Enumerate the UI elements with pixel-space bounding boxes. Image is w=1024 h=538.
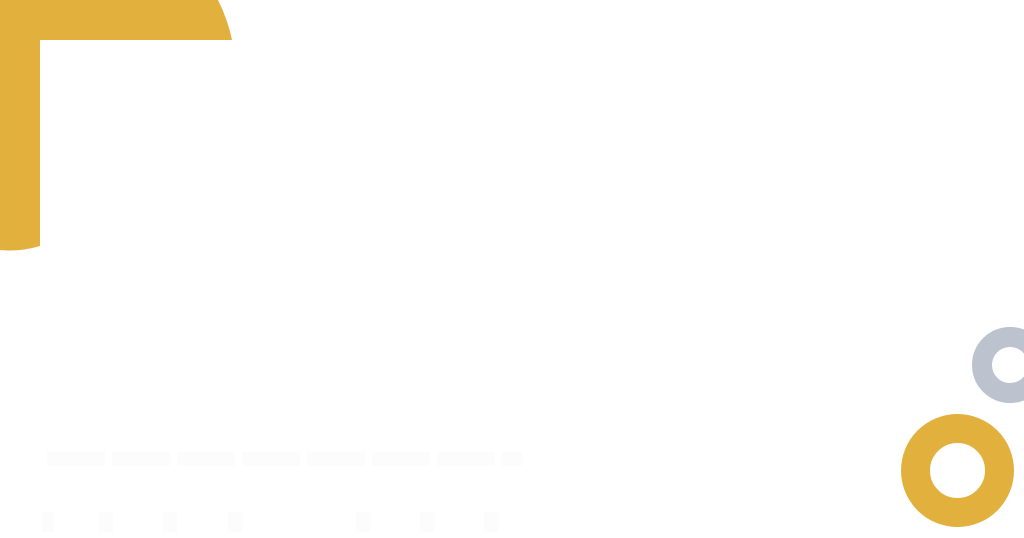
watermark-band-top bbox=[0, 452, 1024, 466]
watermark-chip bbox=[420, 512, 434, 532]
watermark-chip bbox=[372, 452, 430, 466]
ring-gray-ornament bbox=[972, 327, 1024, 403]
watermark-chip bbox=[242, 452, 300, 466]
watermark-chip bbox=[437, 452, 495, 466]
watermark-chip bbox=[484, 512, 498, 532]
quote-card-canvas: What helps me stay motivated daily bbox=[0, 0, 1024, 538]
watermark-chip bbox=[42, 512, 54, 532]
quote-banner: What helps me stay motivated daily bbox=[129, 163, 895, 375]
quote-text: What helps me stay motivated daily bbox=[291, 221, 733, 316]
watermark-chip bbox=[307, 452, 365, 466]
watermark-chip bbox=[112, 452, 170, 466]
watermark-chip bbox=[47, 452, 105, 466]
watermark-chip bbox=[99, 512, 113, 532]
ring-yellow-ornament bbox=[901, 414, 1014, 527]
watermark-chip bbox=[228, 512, 242, 532]
watermark-chip bbox=[163, 512, 177, 532]
watermark-band-bottom bbox=[0, 512, 1024, 532]
watermark-chip bbox=[177, 452, 235, 466]
watermark-chip bbox=[502, 452, 522, 466]
watermark-chip bbox=[356, 512, 370, 532]
